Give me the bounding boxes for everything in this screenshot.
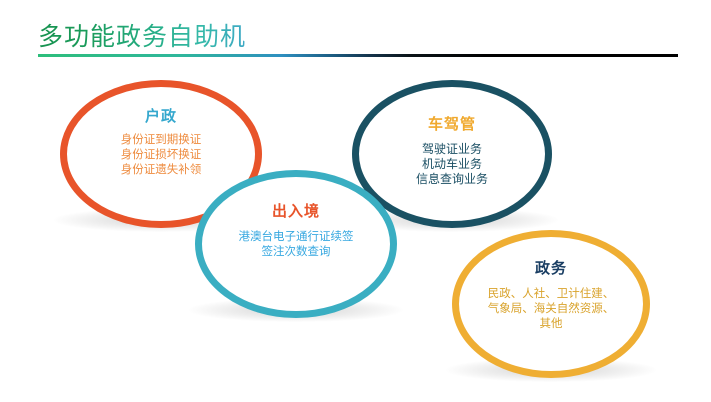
bubble-zhengwu-lines: 民政、人社、卫计住建、 气象局、海关自然资源、 其他: [459, 287, 643, 332]
bubble-zhengwu-line-2: 气象局、海关自然资源、: [459, 302, 643, 317]
bubble-huzheng-line-2: 身份证损坏换证: [67, 148, 255, 163]
bubble-chejiaguan-lines: 驾驶证业务 机动车业务 信息查询业务: [359, 142, 545, 187]
title-underline-rule: [38, 54, 678, 57]
bubble-huzheng-line-3: 身份证遗失补领: [67, 163, 255, 178]
bubble-churujing-content: 出入境 港澳台电子通行证续签 签注次数查询: [202, 202, 390, 260]
bubble-huzheng-content: 户政 身份证到期换证 身份证损坏换证 身份证遗失补领: [67, 107, 255, 178]
bubble-chejiaguan-line-1: 驾驶证业务: [359, 142, 545, 157]
bubble-churujing-lines: 港澳台电子通行证续签 签注次数查询: [202, 230, 390, 260]
bubble-zhengwu-title: 政务: [459, 259, 643, 279]
bubble-churujing-title: 出入境: [202, 202, 390, 222]
bubble-zhengwu-content: 政务 民政、人社、卫计住建、 气象局、海关自然资源、 其他: [459, 259, 643, 332]
bubble-zhengwu[interactable]: 政务 民政、人社、卫计住建、 气象局、海关自然资源、 其他: [452, 230, 650, 378]
bubble-churujing-line-2: 签注次数查询: [202, 245, 390, 260]
bubble-chejiaguan-line-2: 机动车业务: [359, 157, 545, 172]
bubble-zhengwu-line-1: 民政、人社、卫计住建、: [459, 287, 643, 302]
bubble-huzheng-title: 户政: [67, 107, 255, 127]
bubble-chejiaguan-content: 车驾管 驾驶证业务 机动车业务 信息查询业务: [359, 115, 545, 187]
bubble-churujing[interactable]: 出入境 港澳台电子通行证续签 签注次数查询: [195, 170, 397, 318]
bubble-churujing-line-1: 港澳台电子通行证续签: [202, 230, 390, 245]
bubble-huzheng-lines: 身份证到期换证 身份证损坏换证 身份证遗失补领: [67, 133, 255, 178]
slide-canvas: 多功能政务自助机 户政 身份证到期换证 身份证损坏换证 身份证遗失补领 车驾管 …: [0, 0, 711, 402]
bubble-huzheng-line-1: 身份证到期换证: [67, 133, 255, 148]
bubble-chejiaguan-title: 车驾管: [359, 115, 545, 135]
bubble-zhengwu-line-3: 其他: [459, 317, 643, 332]
page-title: 多功能政务自助机: [38, 22, 246, 52]
bubble-chejiaguan-line-3: 信息查询业务: [359, 172, 545, 187]
slide-title-block: 多功能政务自助机: [38, 22, 678, 62]
